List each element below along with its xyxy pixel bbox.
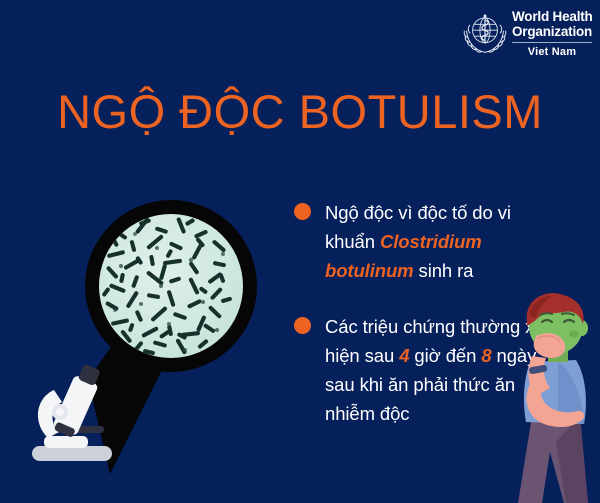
- page-title: NGỘ ĐỘC BOTULISM: [0, 84, 600, 139]
- who-wordmark: World Health Organization: [512, 10, 594, 39]
- bullet-item-1: Ngộ độc vì độc tố do vi khuẩn Clostridiu…: [294, 198, 564, 285]
- infographic-poster: World Health Organization Viet Nam NGỘ Đ…: [0, 0, 600, 503]
- who-country-label: Viet Nam: [512, 46, 592, 58]
- bullet-dot-icon: [294, 317, 311, 334]
- who-divider: [512, 42, 592, 43]
- microscope-icon: [18, 352, 128, 467]
- sick-person-illustration: [496, 292, 600, 503]
- bullet-text-1: Ngộ độc vì độc tố do vi khuẩn Clostridiu…: [325, 198, 564, 285]
- who-emblem-icon: [462, 10, 508, 56]
- who-logo: World Health Organization Viet Nam: [462, 8, 592, 66]
- who-name-line-2: Organization: [512, 25, 594, 40]
- microscope-view-ring: [85, 200, 257, 372]
- bullet-dot-icon: [294, 203, 311, 220]
- microscope-field-of-view: [99, 214, 243, 358]
- who-name-line-1: World Health: [512, 10, 594, 25]
